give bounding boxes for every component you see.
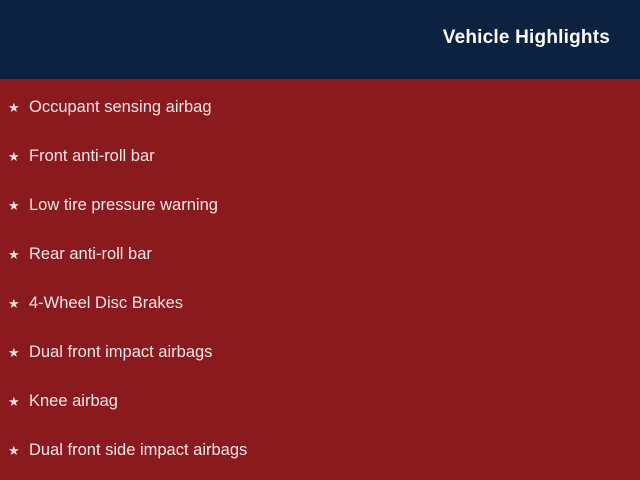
- list-item: ★ Low tire pressure warning: [8, 193, 218, 217]
- list-item: ★ Dual front impact airbags: [8, 340, 212, 364]
- list-item-label: Low tire pressure warning: [29, 197, 218, 214]
- list-item-label: Rear anti-roll bar: [29, 246, 152, 263]
- list-item-label: 4-Wheel Disc Brakes: [29, 295, 183, 312]
- list-item-label: Dual front side impact airbags: [29, 442, 247, 459]
- star-bullet-icon: ★: [8, 395, 29, 408]
- star-bullet-icon: ★: [8, 248, 29, 261]
- list-item-label: Dual front impact airbags: [29, 344, 212, 361]
- star-bullet-icon: ★: [8, 297, 29, 310]
- header-band: Vehicle Highlights: [0, 0, 640, 79]
- star-bullet-icon: ★: [8, 101, 29, 114]
- list-item-label: Knee airbag: [29, 393, 118, 410]
- vehicle-highlights-list: ★ Occupant sensing airbag ★ Front anti-r…: [0, 79, 640, 480]
- star-bullet-icon: ★: [8, 346, 29, 359]
- list-item: ★ Front anti-roll bar: [8, 144, 155, 168]
- list-item: ★ Occupant sensing airbag: [8, 95, 212, 119]
- star-bullet-icon: ★: [8, 150, 29, 163]
- star-bullet-icon: ★: [8, 199, 29, 212]
- list-item: ★ Knee airbag: [8, 389, 118, 413]
- list-item-label: Front anti-roll bar: [29, 148, 155, 165]
- list-item: ★ Dual front side impact airbags: [8, 438, 247, 462]
- vehicle-highlights-slide: Vehicle Highlights ★ Occupant sensing ai…: [0, 0, 640, 480]
- page-title: Vehicle Highlights: [443, 27, 610, 49]
- list-item-label: Occupant sensing airbag: [29, 99, 212, 116]
- list-item: ★ 4-Wheel Disc Brakes: [8, 291, 183, 315]
- list-item: ★ Rear anti-roll bar: [8, 242, 152, 266]
- star-bullet-icon: ★: [8, 444, 29, 457]
